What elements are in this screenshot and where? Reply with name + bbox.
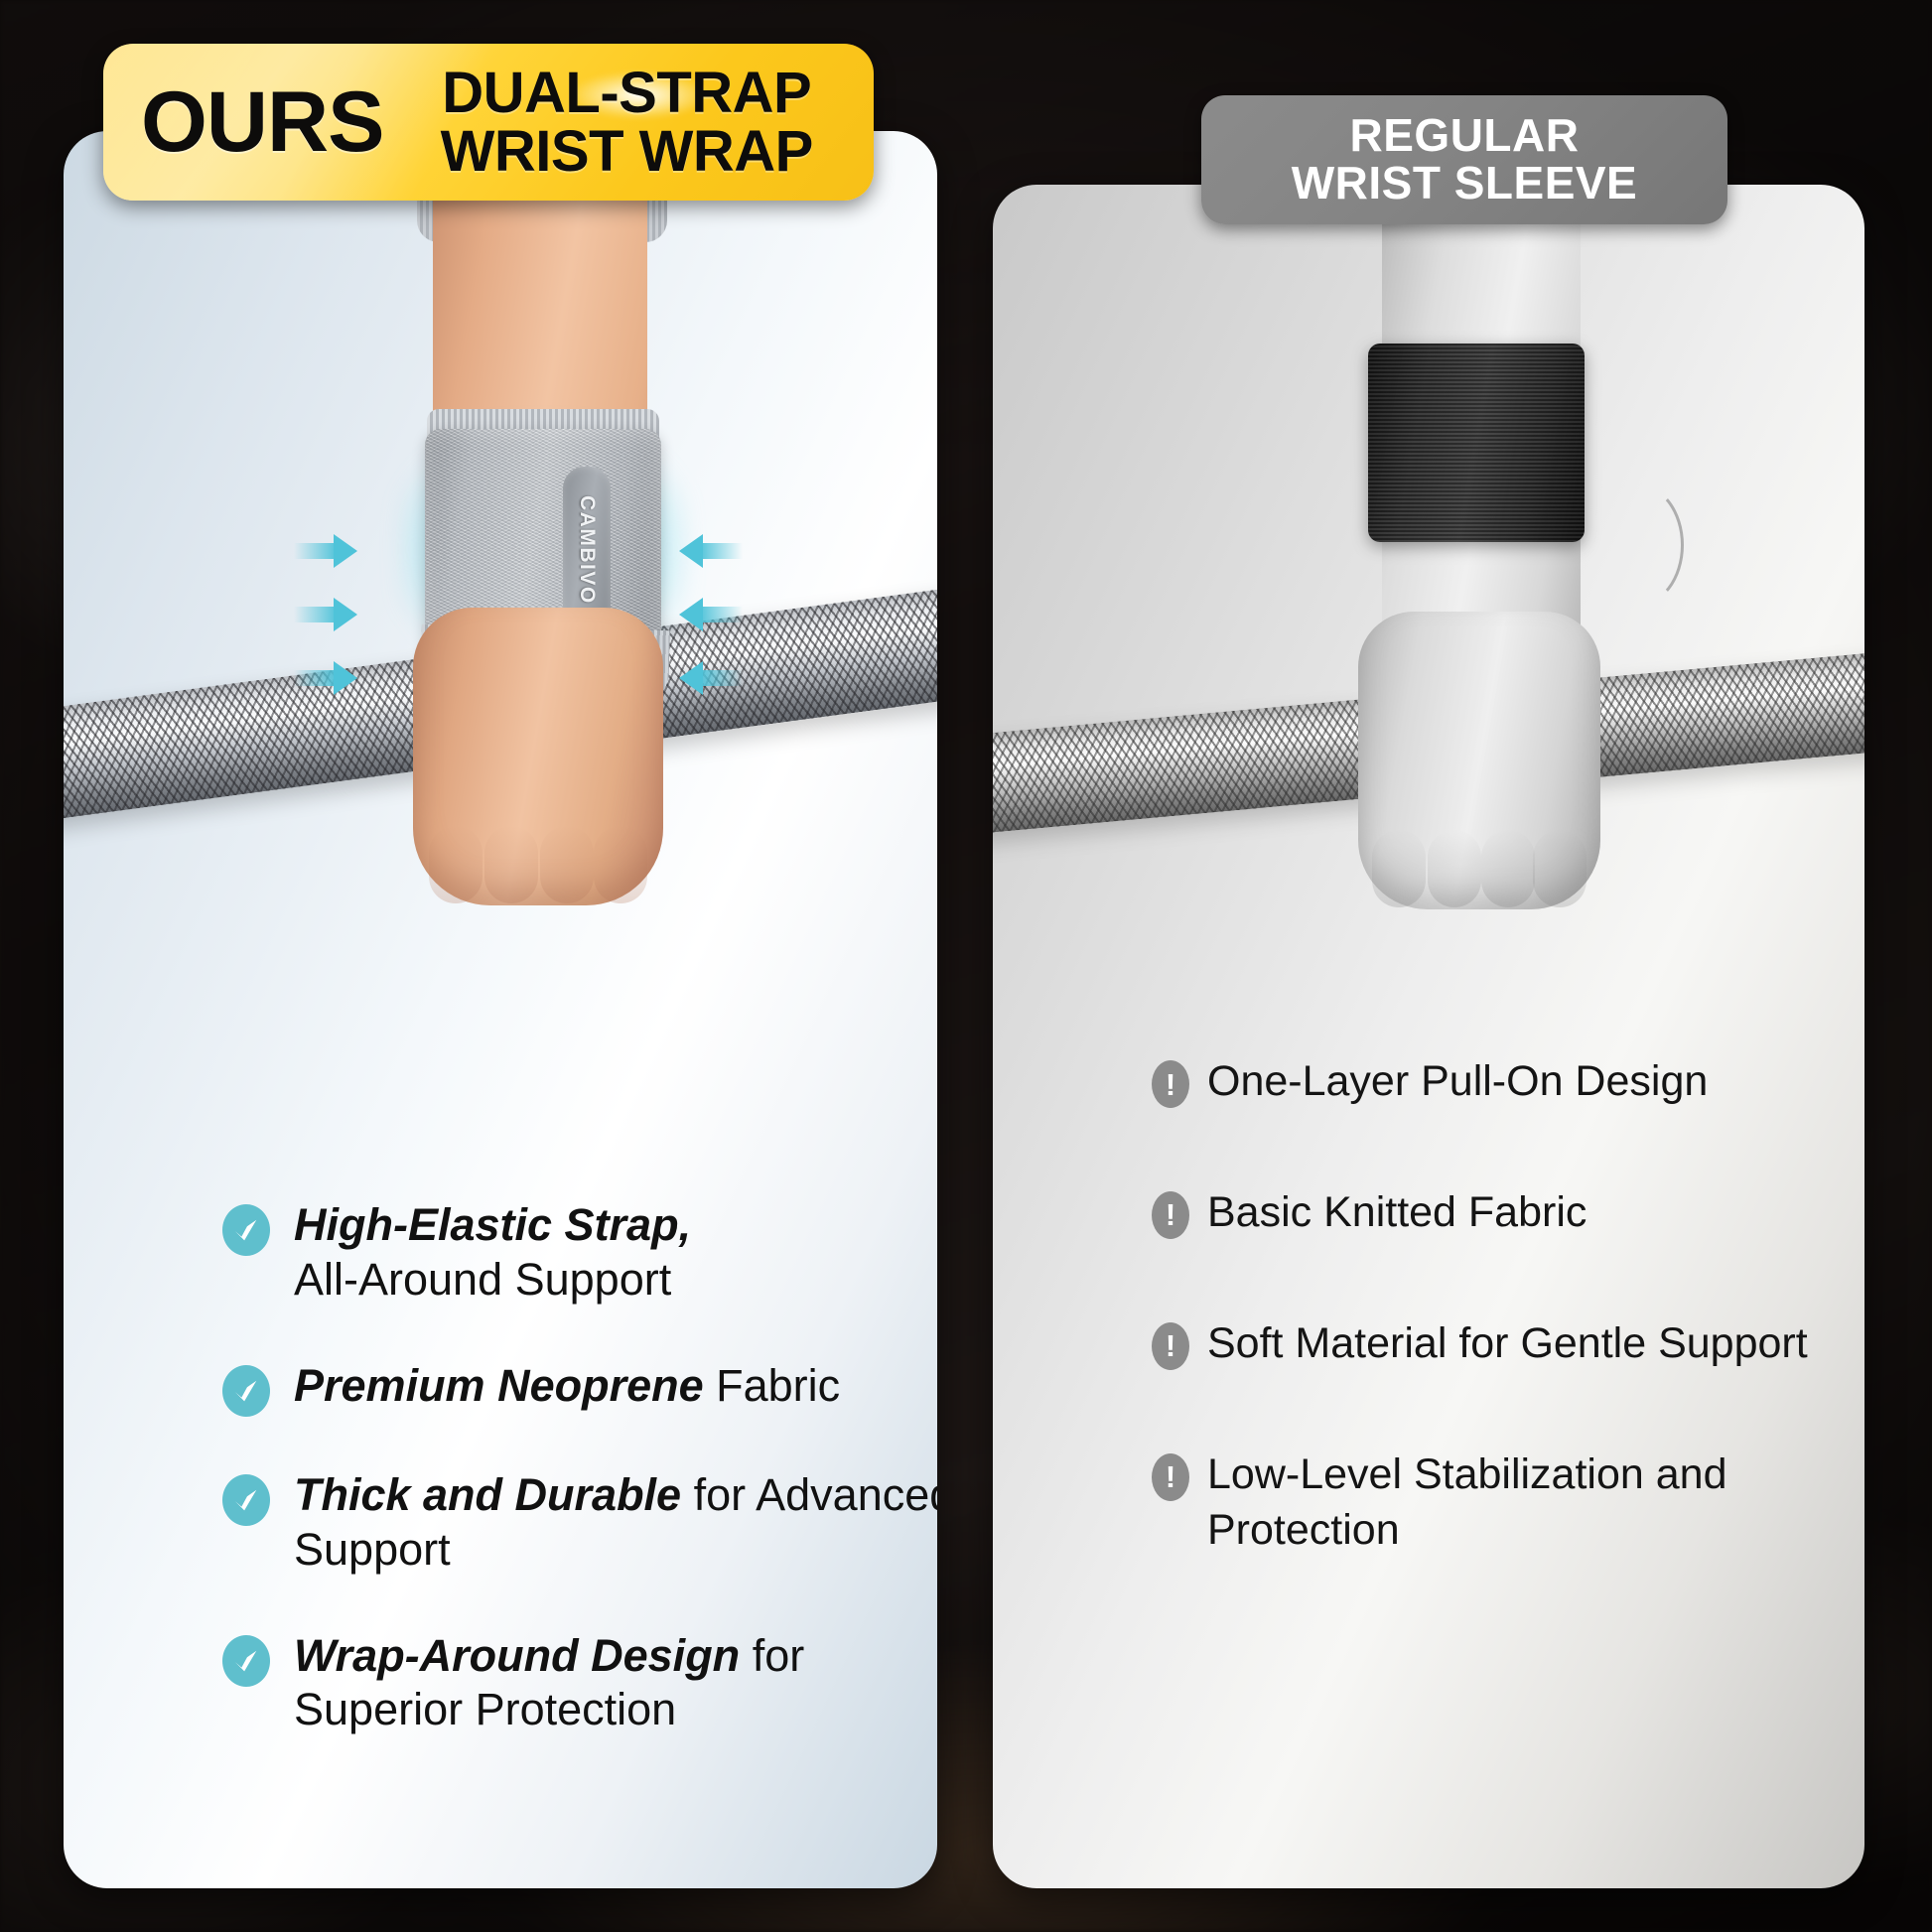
feature-text: One-Layer Pull-On Design <box>1207 1054 1708 1110</box>
check-icon <box>222 1365 270 1417</box>
regular-header-badge: REGULAR WRIST SLEEVE <box>1201 95 1727 224</box>
ours-eyebrow: OURS <box>141 79 383 165</box>
list-item: ! Low-Level Stabilization and Protection <box>1152 1448 1847 1559</box>
feature-rest: Fabric <box>716 1360 840 1411</box>
exclamation-icon: ! <box>1152 1060 1189 1108</box>
ours-title: DUAL-STRAP WRIST WRAP <box>409 64 844 181</box>
feature-bold: High-Elastic Strap, <box>294 1199 691 1250</box>
regular-product-photo <box>993 185 1864 919</box>
regular-panel: ! One-Layer Pull-On Design ! Basic Knitt… <box>993 185 1864 1888</box>
knuckle <box>1481 830 1535 907</box>
list-item: Wrap-Around Design for Superior Protecti… <box>222 1629 937 1738</box>
ours-panel: CAMBIVO High-Elast <box>64 131 937 1888</box>
exclamation-icon: ! <box>1152 1453 1189 1501</box>
list-item: ! One-Layer Pull-On Design <box>1152 1054 1847 1110</box>
list-item: Thick and Durable for Advanced Support <box>222 1468 937 1578</box>
feature-text: Premium Neoprene Fabric <box>294 1359 840 1414</box>
comparison-infographic: CAMBIVO High-Elast <box>0 0 1932 1932</box>
fist-left <box>413 608 663 905</box>
feature-rest: All-Around Support <box>294 1254 671 1305</box>
exclamation-icon: ! <box>1152 1322 1189 1370</box>
ours-header-badge: OURS DUAL-STRAP WRIST WRAP <box>103 44 874 201</box>
arrow-right-icon <box>294 661 357 695</box>
regular-wrist-sleeve <box>1368 344 1585 542</box>
ours-feature-list: High-Elastic Strap, All-Around Support P… <box>222 1198 937 1789</box>
regular-title-line2: WRIST SLEEVE <box>1292 160 1637 207</box>
check-icon <box>222 1474 270 1526</box>
list-item: High-Elastic Strap, All-Around Support <box>222 1198 937 1308</box>
feature-bold: Premium Neoprene <box>294 1360 704 1411</box>
ours-title-line2: WRIST WRAP <box>441 119 813 184</box>
knuckle <box>484 826 538 903</box>
regular-feature-list: ! One-Layer Pull-On Design ! Basic Knitt… <box>1152 1054 1847 1633</box>
arrow-left-icon <box>679 661 743 695</box>
fist-right <box>1358 612 1600 909</box>
arrow-right-icon <box>294 598 357 631</box>
regular-title-line1: REGULAR <box>1350 112 1580 160</box>
knuckle <box>1428 830 1481 907</box>
check-icon <box>222 1204 270 1256</box>
feature-text: High-Elastic Strap, All-Around Support <box>294 1198 691 1308</box>
arrow-right-icon <box>294 534 357 568</box>
feature-text: Soft Material for Gentle Support <box>1207 1316 1808 1372</box>
feature-bold: Wrap-Around Design <box>294 1630 740 1681</box>
exclamation-icon: ! <box>1152 1191 1189 1239</box>
knuckle <box>594 826 647 903</box>
list-item: ! Basic Knitted Fabric <box>1152 1185 1847 1241</box>
feature-bold: Thick and Durable <box>294 1469 681 1520</box>
check-icon <box>222 1635 270 1687</box>
feature-text: Low-Level Stabilization and Protection <box>1207 1448 1847 1559</box>
arrow-left-icon <box>679 598 743 631</box>
knuckle <box>1372 830 1426 907</box>
feature-text: Basic Knitted Fabric <box>1207 1185 1587 1241</box>
feature-text: Thick and Durable for Advanced Support <box>294 1468 937 1578</box>
knuckle <box>540 826 594 903</box>
knuckle <box>1533 830 1587 907</box>
list-item: ! Soft Material for Gentle Support <box>1152 1316 1847 1372</box>
knuckle <box>429 826 483 903</box>
arrow-left-icon <box>679 534 743 568</box>
list-item: Premium Neoprene Fabric <box>222 1359 937 1417</box>
feature-text: Wrap-Around Design for Superior Protecti… <box>294 1629 937 1738</box>
brand-label-text: CAMBIVO <box>575 495 599 605</box>
ours-product-photo: CAMBIVO <box>64 131 937 915</box>
sleeve-arc-indicator <box>1588 483 1684 608</box>
ours-title-line1: DUAL-STRAP <box>442 61 811 125</box>
